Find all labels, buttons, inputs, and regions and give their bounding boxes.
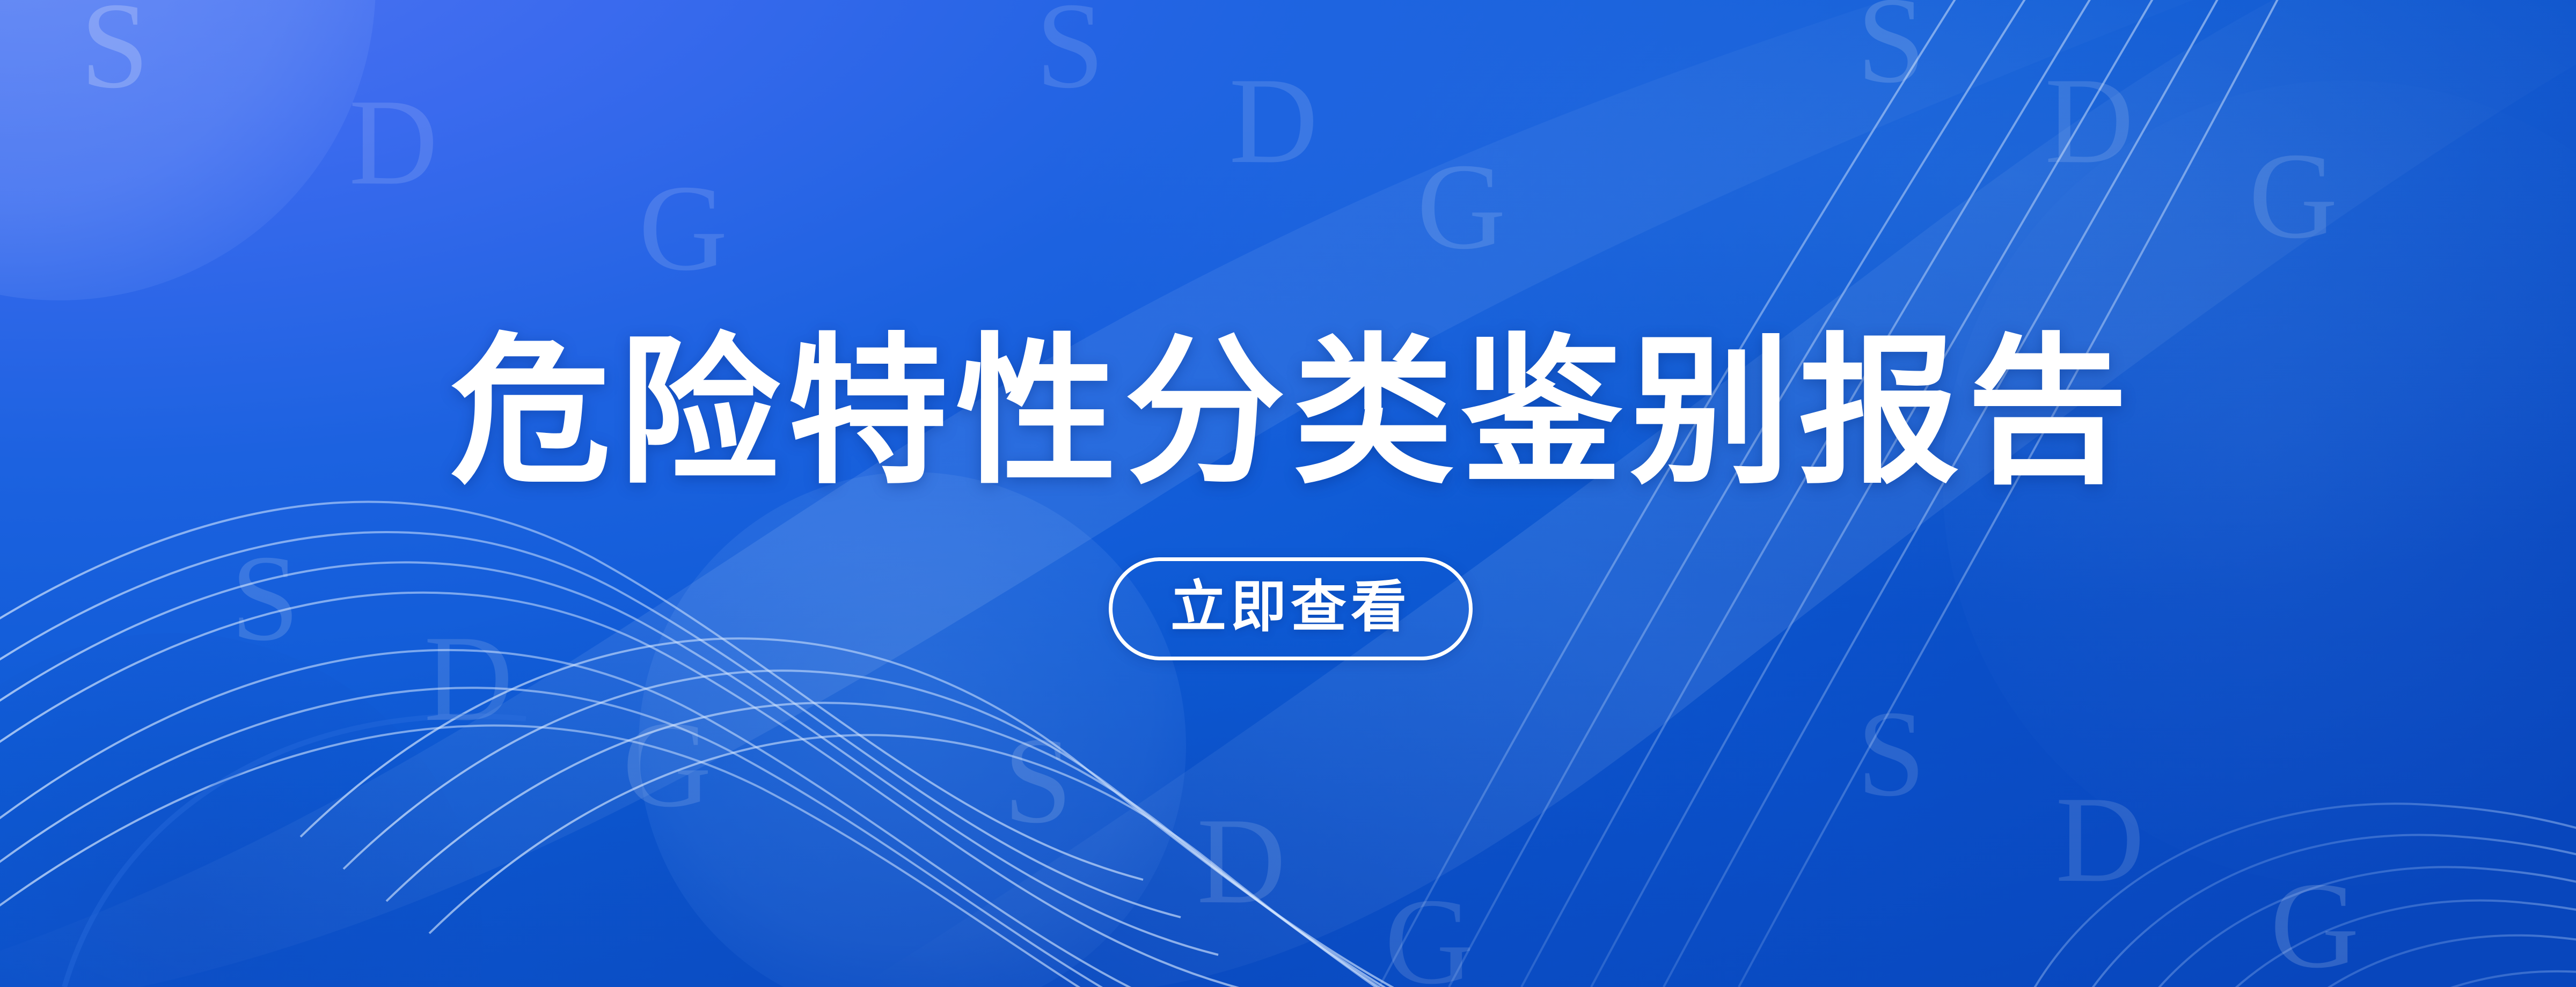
banner-content: 危险特性分类鉴别报告 立即查看	[0, 0, 2576, 987]
view-now-button[interactable]: 立即查看	[1109, 557, 1473, 660]
page-title: 危险特性分类鉴别报告	[450, 327, 2135, 497]
promo-banner: SDGSDGSDGSDGSDGSDG 危险特性分类鉴别报告 立即查看	[0, 0, 2576, 987]
